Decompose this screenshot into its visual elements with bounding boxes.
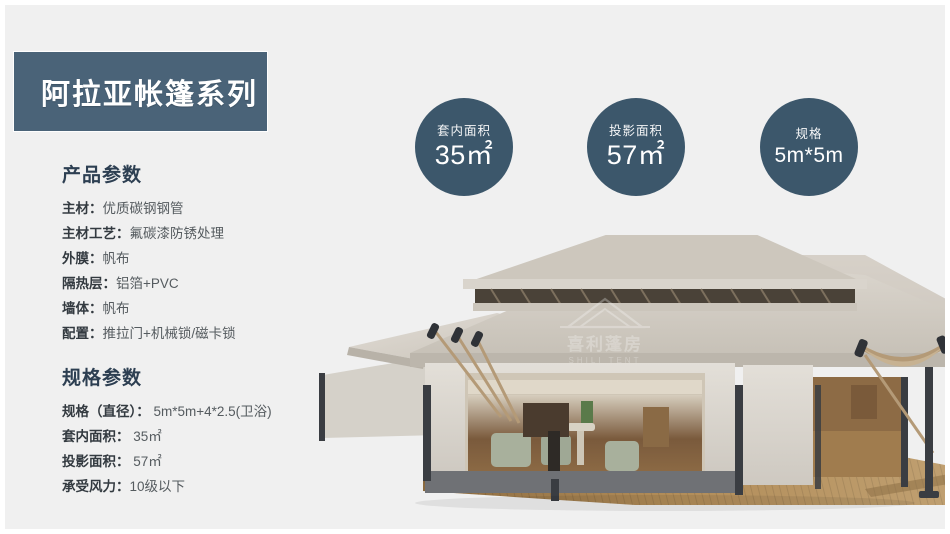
stat-value: 5m*5m <box>774 145 843 166</box>
spec-label: 外膜： <box>62 251 103 266</box>
spec-label: 主材： <box>62 201 103 216</box>
spec-label: 投影面积： <box>62 454 130 469</box>
spec-value: 57㎡ <box>130 454 162 469</box>
upper-roof <box>463 235 867 311</box>
spec-value: 帆布 <box>103 301 130 316</box>
tent-illustration <box>305 235 950 534</box>
page-title: 阿拉亚帐篷系列 <box>14 71 258 113</box>
spec-value: 5m*5m+4*2.5(卫浴) <box>150 404 272 419</box>
stat-circle-dimensions: 规格 5m*5m <box>760 98 858 196</box>
stat-circle-projected-area: 投影面积 57㎡ <box>587 98 685 196</box>
spec-value: 35㎡ <box>130 429 162 444</box>
slide-canvas: 阿拉亚帐篷系列 产品参数 主材：优质碳钢钢管 主材工艺：氟碳漆防锈处理 外膜：帆… <box>0 0 950 534</box>
stat-value: 57㎡ <box>607 142 666 169</box>
stat-label: 规格 <box>795 128 822 141</box>
stat-value: 35㎡ <box>435 142 494 169</box>
section-heading-product: 产品参数 <box>62 160 362 187</box>
stat-circle-interior-area: 套内面积 35㎡ <box>415 98 513 196</box>
spec-label: 套内面积： <box>62 429 130 444</box>
spec-label: 配置： <box>62 326 103 341</box>
spec-label: 主材工艺： <box>62 226 130 241</box>
stat-label: 投影面积 <box>609 125 663 138</box>
spec-value: 铝箔+PVC <box>116 276 179 291</box>
title-banner: 阿拉亚帐篷系列 <box>14 52 267 131</box>
spec-label: 承受风力： <box>62 479 130 494</box>
spec-value: 推拉门+机械锁/磁卡锁 <box>103 326 236 341</box>
spec-value: 优质碳钢钢管 <box>103 201 184 216</box>
interior-room <box>423 363 743 495</box>
stat-label: 套内面积 <box>437 125 491 138</box>
spec-label: 隔热层： <box>62 276 116 291</box>
spec-row: 主材：优质碳钢钢管 <box>62 196 362 221</box>
spec-value: 氟碳漆防锈处理 <box>130 226 225 241</box>
spec-label: 墙体： <box>62 301 103 316</box>
spec-label: 规格（直径）： <box>62 404 150 419</box>
spec-value: 10级以下 <box>130 479 186 494</box>
spec-value: 帆布 <box>103 251 130 266</box>
